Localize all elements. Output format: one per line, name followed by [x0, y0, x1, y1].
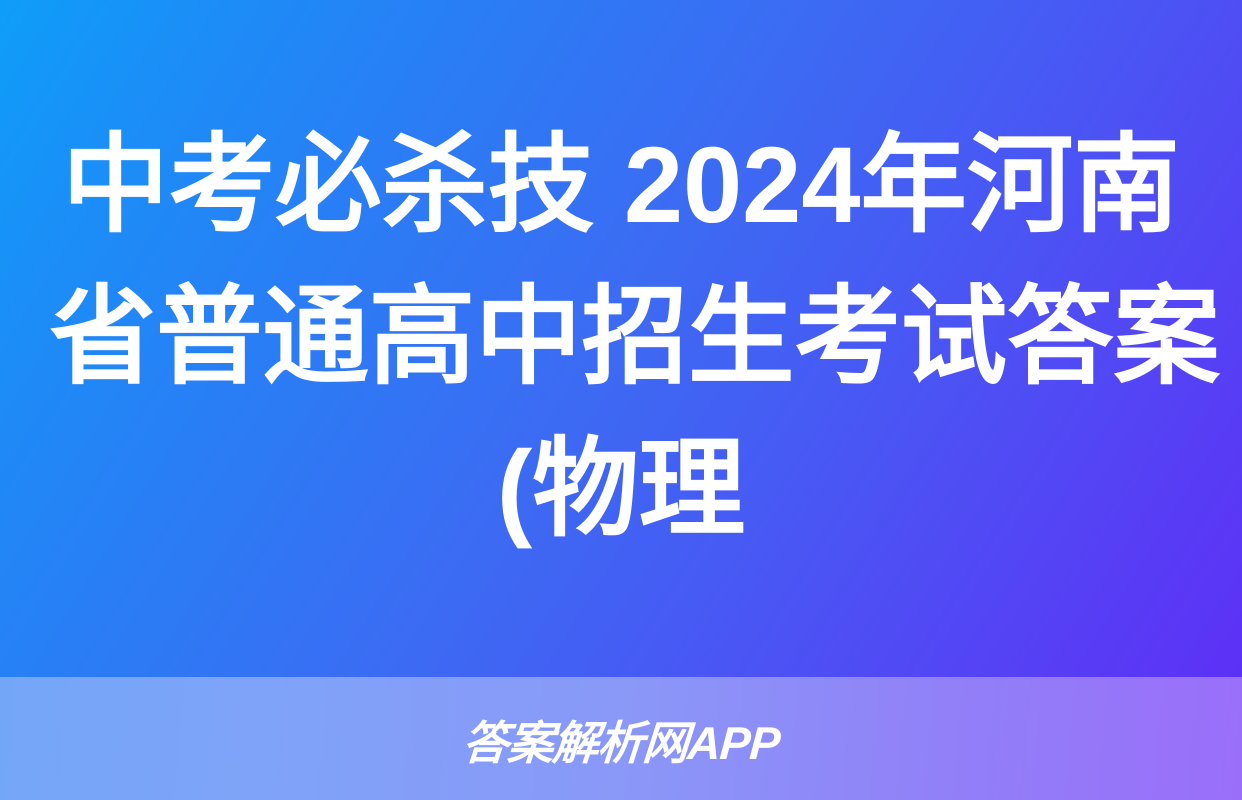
- poster-footer-band: 答案解析网APP: [0, 677, 1242, 800]
- poster-title-line-3: (物理: [50, 413, 1193, 565]
- poster-gradient-stage: 中考必杀技 2024年河南 省普通高中招生考试答案 (物理: [0, 0, 1242, 677]
- poster-title: 中考必杀技 2024年河南 省普通高中招生考试答案 (物理: [41, 109, 1201, 565]
- promo-poster: 中考必杀技 2024年河南 省普通高中招生考试答案 (物理 答案解析网APP: [0, 0, 1242, 800]
- poster-title-line-1: 中考必杀技 2024年河南: [50, 109, 1193, 261]
- app-watermark-label: 答案解析网APP: [460, 707, 781, 773]
- poster-title-line-2: 省普通高中招生考试答案: [50, 261, 1193, 413]
